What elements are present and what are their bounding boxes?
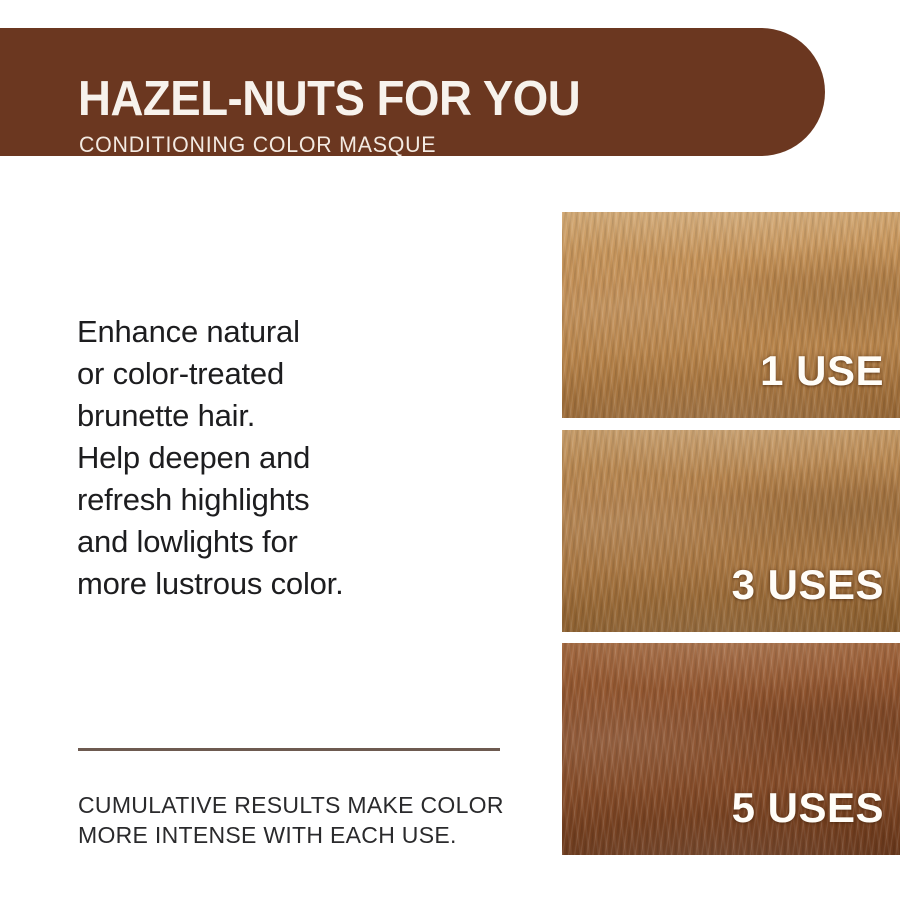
benefit-description: Enhance natural or color-treated brunett… <box>77 311 497 605</box>
swatch-label: 1 USE <box>760 350 884 392</box>
hair-swatch-3-uses: 3 USES <box>562 430 900 632</box>
benefit-line: Help deepen and <box>77 437 497 479</box>
cumulative-results-caption: CUMULATIVE RESULTS MAKE COLOR MORE INTEN… <box>78 790 538 850</box>
caption-line: MORE INTENSE WITH EACH USE. <box>78 820 538 850</box>
caption-line: CUMULATIVE RESULTS MAKE COLOR <box>78 790 538 820</box>
product-subtitle: CONDITIONING COLOR MASQUE <box>79 134 436 156</box>
benefit-line: Enhance natural <box>77 311 497 353</box>
hair-swatch-5-uses: 5 USES <box>562 643 900 855</box>
benefit-line: brunette hair. <box>77 395 497 437</box>
swatch-label: 5 USES <box>732 787 884 829</box>
header-banner: HAZEL-NUTS FOR YOU CONDITIONING COLOR MA… <box>0 28 825 156</box>
infographic-canvas: HAZEL-NUTS FOR YOU CONDITIONING COLOR MA… <box>0 0 900 900</box>
hair-swatch-stack: 1 USE 3 USES 5 USES <box>562 212 900 855</box>
benefit-line: or color-treated <box>77 353 497 395</box>
swatch-label: 3 USES <box>732 564 884 606</box>
benefit-line: refresh highlights <box>77 479 497 521</box>
benefit-line: and lowlights for <box>77 521 497 563</box>
hair-swatch-1-use: 1 USE <box>562 212 900 418</box>
product-title: HAZEL-NUTS FOR YOU <box>78 75 580 124</box>
benefit-line: more lustrous color. <box>77 563 497 605</box>
divider-rule <box>78 748 500 751</box>
